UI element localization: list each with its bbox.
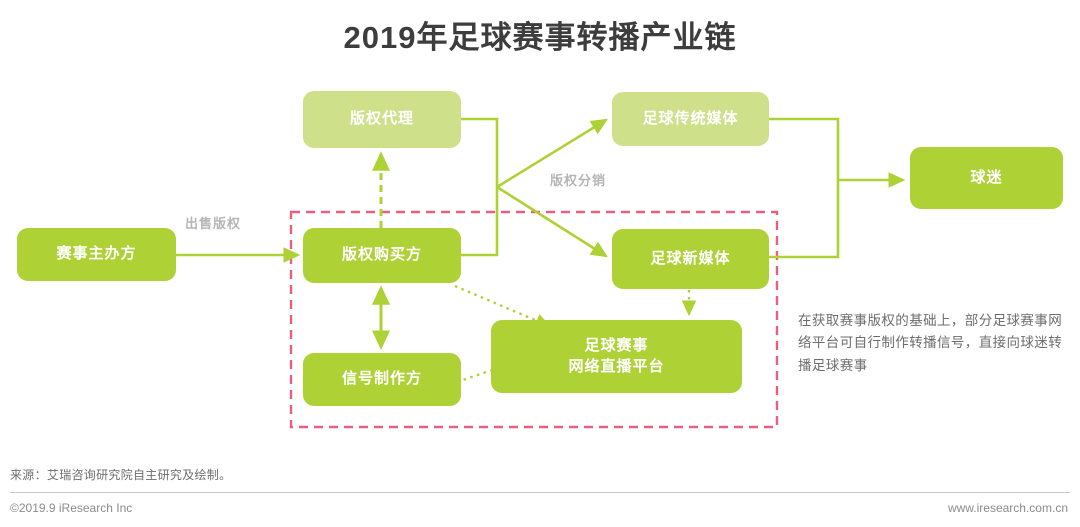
edge-label-sell-rights-text: 出售版权 xyxy=(185,216,241,231)
edge-label-distribute-rights: 版权分销 xyxy=(550,170,606,189)
node-rights-agent[interactable]: 版权代理 xyxy=(303,91,461,148)
side-note: 在获取赛事版权的基础上，部分足球赛事网络平台可自行制作转播信号，直接向球迷转播足… xyxy=(798,310,1068,377)
node-rights-buyer-label: 版权购买方 xyxy=(342,245,422,265)
node-new-media[interactable]: 足球新媒体 xyxy=(612,229,769,289)
edge-fan-to-new-media xyxy=(497,187,606,256)
node-rights-buyer[interactable]: 版权购买方 xyxy=(303,228,461,283)
copyright-line: ©2019.9 iResearch Inc xyxy=(10,501,132,515)
website-url[interactable]: www.iresearch.com.cn xyxy=(948,501,1068,515)
node-new-media-label: 足球新媒体 xyxy=(650,249,730,269)
node-live-platform-label: 足球赛事 网络直播平台 xyxy=(568,336,664,377)
side-note-text: 在获取赛事版权的基础上，部分足球赛事网络平台可自行制作转播信号，直接向球迷转播足… xyxy=(798,313,1062,373)
diagram-root: 2019年足球赛事转播产业链 xyxy=(0,0,1080,527)
node-organizer[interactable]: 赛事主办方 xyxy=(17,228,176,281)
source-line: 来源：艾瑞咨询研究院自主研究及绘制。 xyxy=(10,466,231,483)
node-traditional-media-label: 足球传统媒体 xyxy=(642,109,738,129)
edge-new-media-to-fans xyxy=(769,180,838,257)
footer-divider xyxy=(10,492,1070,493)
node-fans-label: 球迷 xyxy=(970,168,1002,188)
edge-label-distribute-rights-text: 版权分销 xyxy=(550,173,606,188)
edge-agent-to-fan xyxy=(461,119,497,187)
edge-trad-media-to-fans xyxy=(769,119,903,180)
node-signal-maker[interactable]: 信号制作方 xyxy=(303,353,461,406)
node-organizer-label: 赛事主办方 xyxy=(56,244,136,264)
node-rights-agent-label: 版权代理 xyxy=(350,109,414,129)
node-signal-maker-label: 信号制作方 xyxy=(342,369,422,389)
edge-buyer-to-fan xyxy=(461,187,497,255)
edge-label-sell-rights: 出售版权 xyxy=(185,213,241,232)
node-fans[interactable]: 球迷 xyxy=(910,147,1063,209)
node-live-platform[interactable]: 足球赛事 网络直播平台 xyxy=(491,320,742,393)
node-traditional-media[interactable]: 足球传统媒体 xyxy=(612,92,769,146)
